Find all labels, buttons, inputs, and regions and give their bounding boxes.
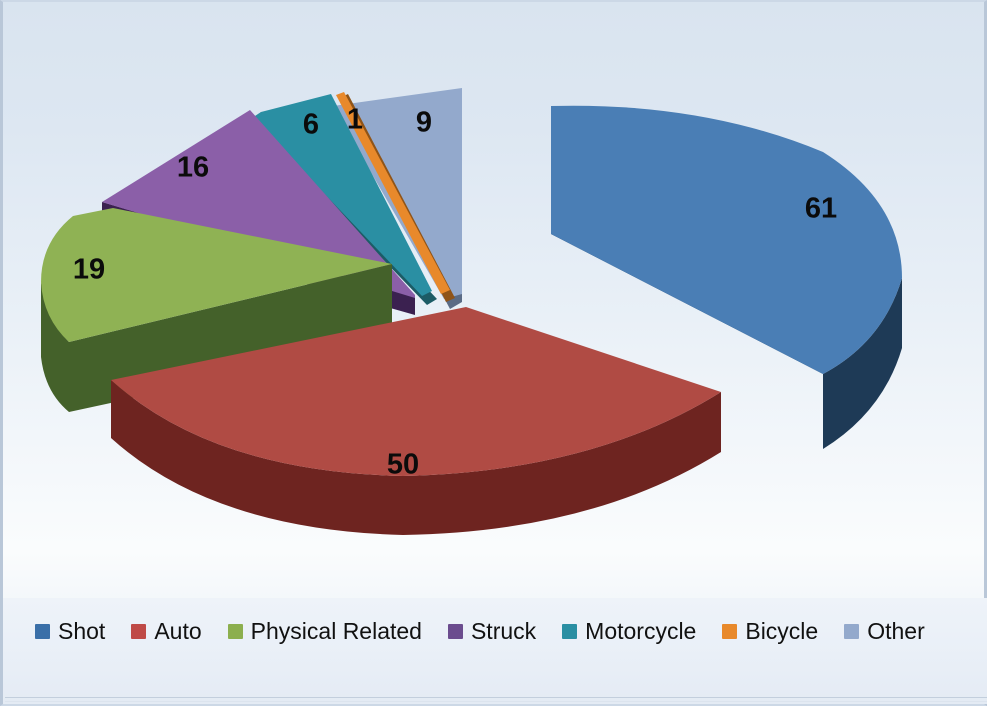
legend-item-bicycle[interactable]: Bicycle xyxy=(722,620,818,643)
legend-item-auto[interactable]: Auto xyxy=(131,620,201,643)
legend-item-motorcycle[interactable]: Motorcycle xyxy=(562,620,696,643)
legend-swatch-physical-related xyxy=(228,624,243,639)
legend-label-physical-related: Physical Related xyxy=(251,620,422,643)
legend-swatch-shot xyxy=(35,624,50,639)
pie-chart-svg xyxy=(3,2,987,602)
legend-item-struck[interactable]: Struck xyxy=(448,620,536,643)
legend-label-shot: Shot xyxy=(58,620,105,643)
legend-label-bicycle: Bicycle xyxy=(745,620,818,643)
legend-swatch-struck xyxy=(448,624,463,639)
legend-swatch-other xyxy=(844,624,859,639)
legend-divider xyxy=(5,697,987,698)
legend-label-auto: Auto xyxy=(154,620,201,643)
legend-label-other: Other xyxy=(867,620,925,643)
chart-legend: Shot Auto Physical Related Struck Motorc… xyxy=(3,598,987,704)
legend-item-physical-related[interactable]: Physical Related xyxy=(228,620,422,643)
legend-items: Shot Auto Physical Related Struck Motorc… xyxy=(3,620,925,643)
legend-label-struck: Struck xyxy=(471,620,536,643)
legend-item-other[interactable]: Other xyxy=(844,620,925,643)
legend-swatch-motorcycle xyxy=(562,624,577,639)
pie-chart-plot-area: 61 50 19 16 6 1 9 xyxy=(3,2,987,602)
legend-swatch-bicycle xyxy=(722,624,737,639)
legend-divider-secondary xyxy=(5,701,987,702)
legend-item-shot[interactable]: Shot xyxy=(35,620,105,643)
legend-label-motorcycle: Motorcycle xyxy=(585,620,696,643)
legend-swatch-auto xyxy=(131,624,146,639)
pie-slice-shot-top xyxy=(551,106,902,374)
chart-container: 61 50 19 16 6 1 9 Shot Auto Physical Rel… xyxy=(0,0,987,706)
